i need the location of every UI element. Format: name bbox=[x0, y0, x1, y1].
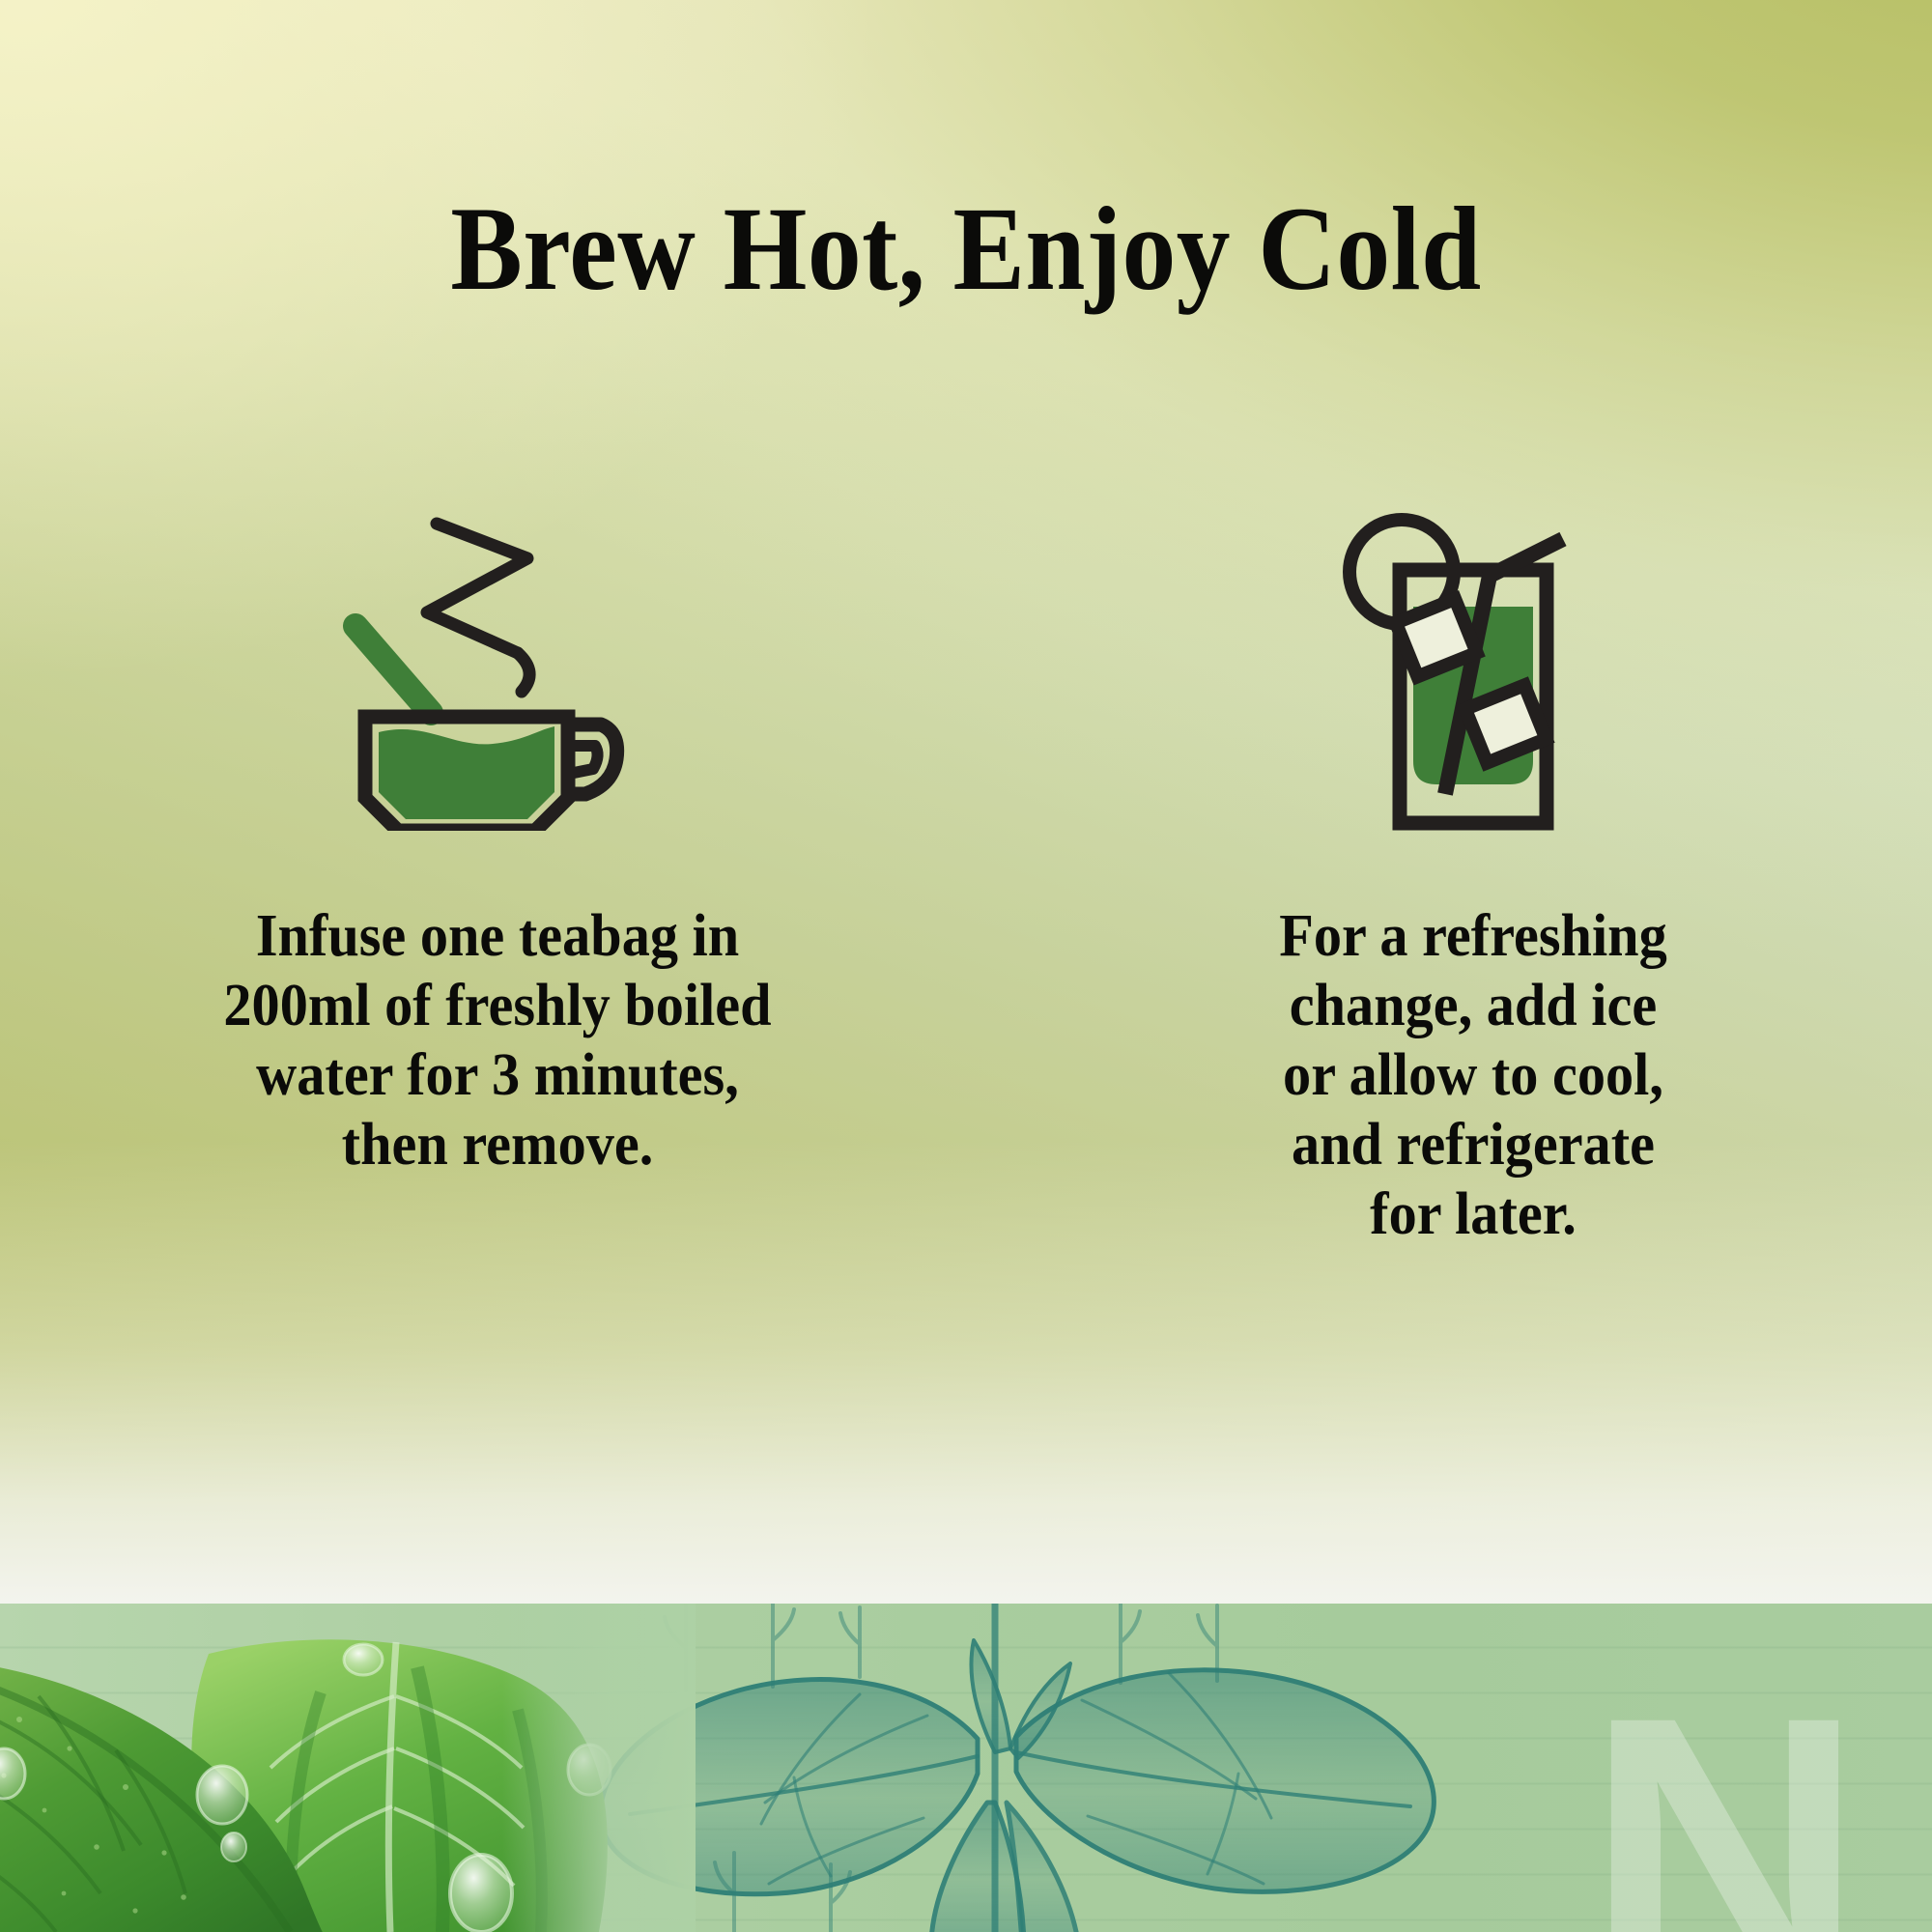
caption-line: water for 3 minutes, bbox=[89, 1041, 906, 1111]
caption-line: For a refreshing bbox=[1155, 902, 1791, 972]
caption-brew-hot: Infuse one teabag in 200ml of freshly bo… bbox=[89, 902, 906, 1180]
page-title: Brew Hot, Enjoy Cold bbox=[97, 189, 1835, 309]
iced-drink-glass-icon bbox=[1328, 512, 1618, 831]
iced-drink-glass-icon-wrap bbox=[1328, 454, 1618, 831]
caption-line: for later. bbox=[1155, 1180, 1791, 1250]
caption-line: or allow to cool, bbox=[1155, 1041, 1791, 1111]
hot-tea-cup-icon-wrap bbox=[338, 454, 657, 831]
band-photo-fade bbox=[502, 1604, 696, 1932]
band-watermark-text: N bbox=[1585, 1660, 1893, 1932]
poster-root: Brew Hot, Enjoy Cold bbox=[0, 0, 1932, 1932]
caption-line: and refrigerate bbox=[1155, 1111, 1791, 1180]
column-enjoy-cold: For a refreshing change, add ice or allo… bbox=[956, 454, 1932, 1250]
column-brew-hot: Infuse one teabag in 200ml of freshly bo… bbox=[0, 454, 956, 1250]
instruction-columns: Infuse one teabag in 200ml of freshly bo… bbox=[0, 454, 1932, 1250]
bottom-botanical-band: N bbox=[0, 1604, 1932, 1932]
caption-line: 200ml of freshly boiled bbox=[89, 972, 906, 1041]
caption-line: Infuse one teabag in bbox=[89, 902, 906, 972]
caption-enjoy-cold: For a refreshing change, add ice or allo… bbox=[1155, 902, 1791, 1250]
caption-line: then remove. bbox=[89, 1111, 906, 1180]
hot-tea-cup-icon bbox=[338, 512, 657, 831]
caption-line: change, add ice bbox=[1155, 972, 1791, 1041]
